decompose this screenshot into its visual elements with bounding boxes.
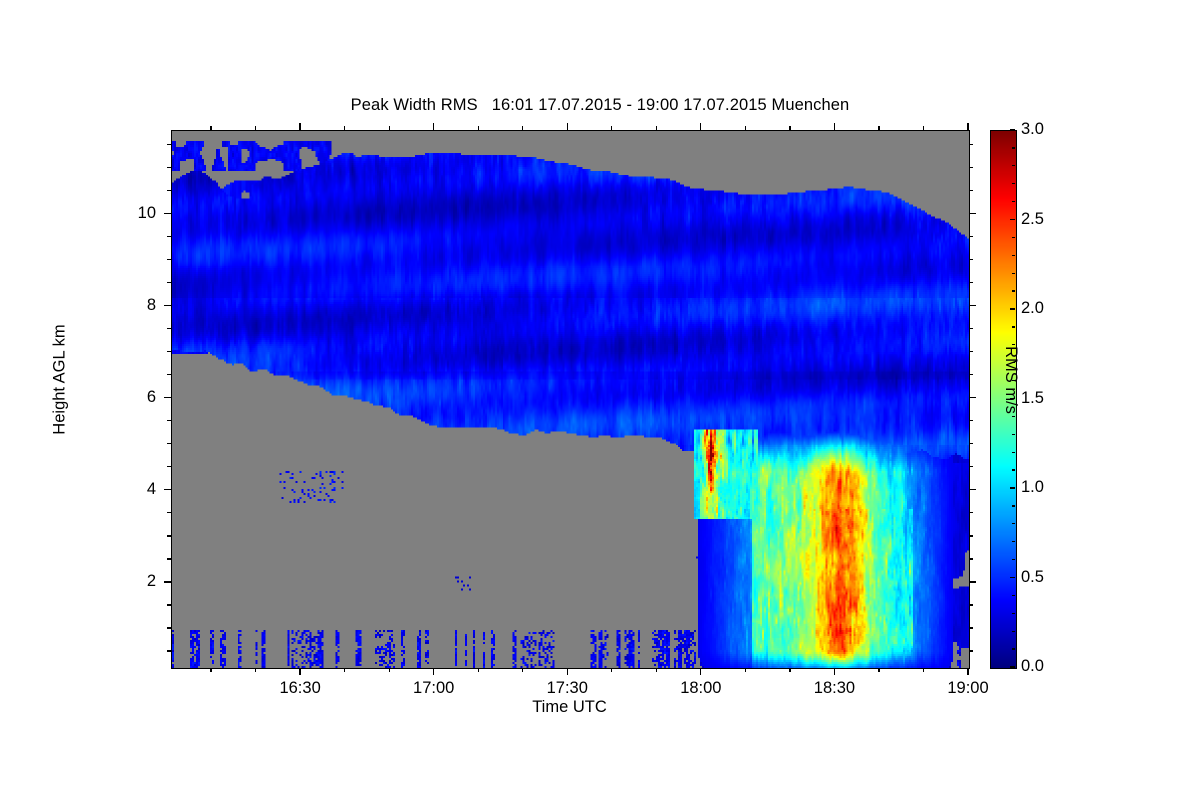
colorbar-tick-label: 1.0: [1021, 478, 1081, 497]
colorbar-tick-label: 1.5: [1021, 389, 1081, 408]
x-tick-label: 17:30: [522, 679, 612, 698]
colorbar-tick-label: 0.5: [1021, 568, 1081, 587]
x-tick-label: 18:00: [656, 679, 746, 698]
x-axis-title: Time UTC: [171, 698, 968, 717]
y-tick-label: 4: [116, 480, 156, 499]
y-tick-label: 8: [116, 296, 156, 315]
colorbar-title: RMS m/s: [1001, 270, 1020, 490]
y-tick-label: 2: [116, 572, 156, 591]
page-title: Peak Width RMS 16:01 17.07.2015 - 19:00 …: [0, 96, 1200, 115]
y-axis-title: Height AGL km: [51, 280, 70, 480]
x-tick-label: 19:00: [923, 679, 1013, 698]
heatmap-image: [172, 131, 969, 668]
x-tick-label: 16:30: [255, 679, 345, 698]
colorbar-tick-label: 3.0: [1021, 120, 1081, 139]
colorbar-tick-label: 2.0: [1021, 299, 1081, 318]
y-tick-label: 6: [116, 388, 156, 407]
colorbar-tick-label: 0.0: [1021, 657, 1081, 676]
heatmap-plot-area: [171, 130, 970, 669]
y-tick-label: 10: [116, 204, 156, 223]
x-tick-label: 18:30: [789, 679, 879, 698]
figure-canvas: Peak Width RMS 16:01 17.07.2015 - 19:00 …: [0, 0, 1200, 800]
x-tick-label: 17:00: [389, 679, 479, 698]
colorbar-tick-label: 2.5: [1021, 210, 1081, 229]
